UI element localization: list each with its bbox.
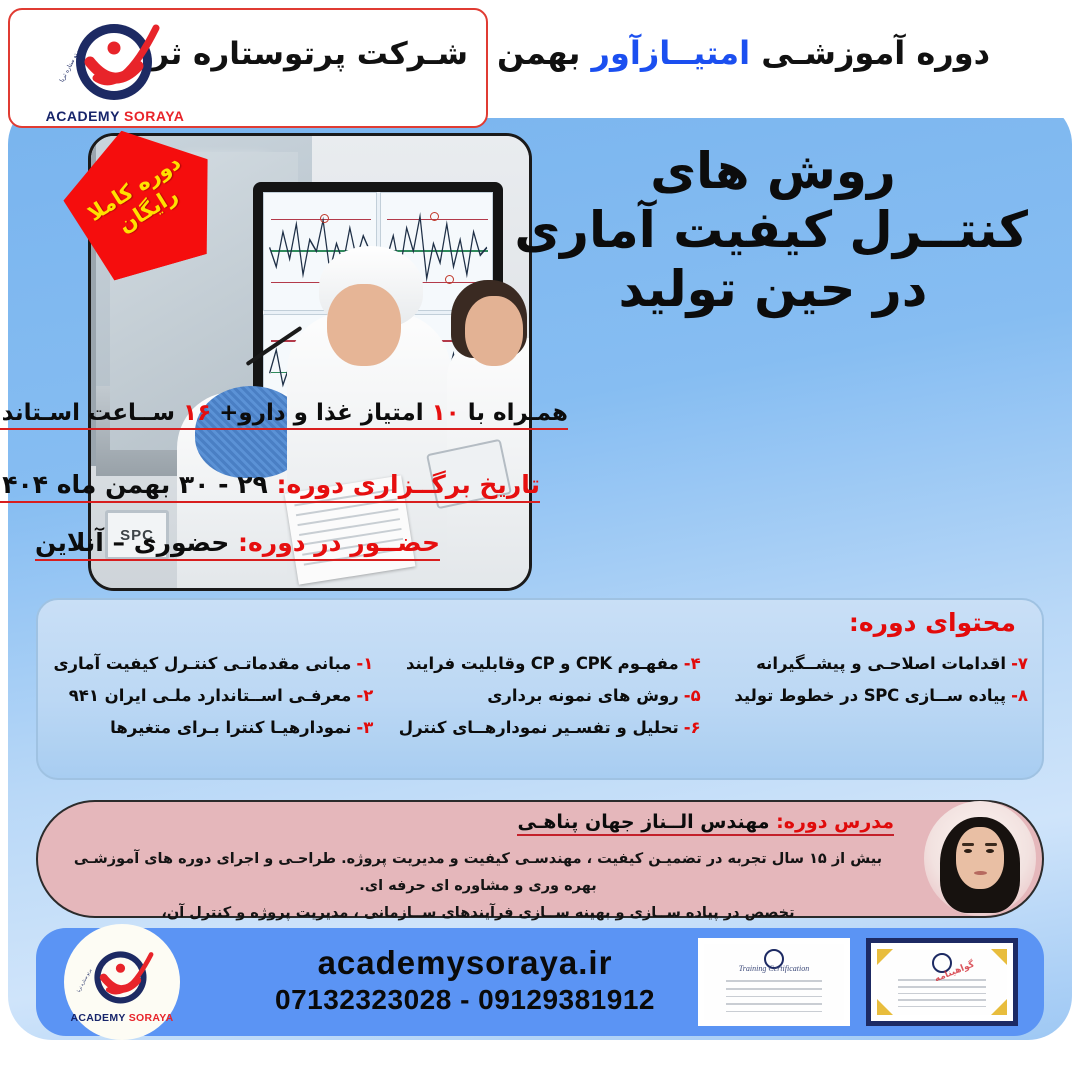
item-text: پیاده ســازی SPC در خطوط تولید <box>734 680 1006 712</box>
poster-root: دوره آموزشـی امتیــازآور بهمن ماه شـرکت … <box>0 0 1080 1080</box>
instructor-name: مهندس الــناز جهان پناهـی <box>517 811 776 833</box>
instructor-avatar <box>924 801 1036 916</box>
course-date-line: تاریخ برگــزاری دوره: ۲۹ - ۳۰ بهمن ماه ۱… <box>0 470 540 503</box>
certificate-title: Training Certification <box>704 964 844 973</box>
credit-suffix: ســاعت اسـتاندارد <box>0 400 183 426</box>
item-number: ۳- <box>356 712 373 744</box>
company-identity-box: شـرکت پرتوستاره ثریا پرتو ستاره ثریا ACA… <box>8 8 488 128</box>
title-line-1: روش های <box>518 142 1028 201</box>
item-number: ۴- <box>684 648 701 680</box>
course-mode-line: حضــور در دوره: حضوری – آنلاین <box>35 528 440 561</box>
item-text: نمودارهیـا کنترا بـرای متغیرها <box>110 712 351 744</box>
contact-block: academysoraya.ir 07132323028 - 091293819… <box>250 944 680 1016</box>
instructor-panel: مدرس دوره: مهندس الــناز جهان پناهـی بیش… <box>36 800 1044 918</box>
item-text: تحلیل و تفسـیر نمودارهــای کنترل <box>399 712 679 744</box>
footer-bar: پرتو ستاره ثریا ACADEMY SORAYA academyso… <box>36 928 1044 1036</box>
title-line-2: کنتــرل کیفیت آماری <box>518 201 1028 260</box>
item-number: ۵- <box>684 680 701 712</box>
svg-text:پرتو ستاره ثریا: پرتو ستاره ثریا <box>76 967 93 993</box>
content-item: ۶-تحلیل و تفسـیر نمودارهــای کنترل <box>379 712 700 744</box>
content-column-middle: ۴-مفهـوم CPK و CP وقابلیت فرایند ۵-روش ه… <box>379 648 700 745</box>
content-column-left: ۷-اقدامات اصلاحـی و پیشــگیرانه ۸-پیاده … <box>707 648 1028 745</box>
instructor-title: مدرس دوره: مهندس الــناز جهان پناهـی <box>517 811 894 836</box>
item-number: ۶- <box>684 712 701 744</box>
instructor-label: مدرس دوره: <box>776 811 894 833</box>
content-item: ۷-اقدامات اصلاحـی و پیشــگیرانه <box>707 648 1028 680</box>
credit-hours-line: همـراه با ۱۰ امتیاز غذا و دارو+ ۱۶ ســاع… <box>0 400 568 430</box>
footer-brand-soraya: SORAYA <box>129 1012 174 1024</box>
item-text: روش های نمونه برداری <box>487 680 679 712</box>
item-text: مبانی مقدماتـی کنتـرل کیفیت آماری <box>53 648 351 680</box>
promo-headline: دوره آموزشـی امتیــازآور بهمن ماه <box>435 34 990 72</box>
promo-highlight: امتیــازآور <box>592 34 751 72</box>
instructor-bio: بیش از ۱۵ سال تجربه در تضمیـن کیفیت ، مه… <box>64 846 892 926</box>
course-title: روش های کنتــرل کیفیت آماری در حین تولید <box>518 142 1028 319</box>
course-content-panel: محتوای دوره: ۷-اقدامات اصلاحـی و پیشــگی… <box>36 598 1044 780</box>
footer-brand-academy: ACADEMY <box>70 1012 125 1024</box>
item-number: ۲- <box>356 680 373 712</box>
item-number: ۷- <box>1011 648 1028 680</box>
brand-soraya-word: SORAYA <box>124 108 184 124</box>
footer-logo: پرتو ستاره ثریا ACADEMY SORAYA <box>64 924 180 1040</box>
item-text: اقدامات اصلاحـی و پیشــگیرانه <box>756 648 1006 680</box>
content-item: ۳-نمودارهیـا کنترا بـرای متغیرها <box>52 712 373 744</box>
credit-points: ۱۰ <box>432 400 460 426</box>
top-header-bar: دوره آموزشـی امتیــازآور بهمن ماه شـرکت … <box>0 0 1080 118</box>
certificate-sample-persian: گواهینامه <box>866 938 1018 1026</box>
credit-prefix: همـراه با <box>460 400 568 426</box>
mode-label: حضــور در دوره: <box>238 528 440 557</box>
content-heading: محتوای دوره: <box>849 608 1016 637</box>
content-item: ۱-مبانی مقدماتـی کنتـرل کیفیت آماری <box>52 648 373 680</box>
date-value: ۲۹ - ۳۰ بهمن ماه ۱۴۰۴ <box>0 470 277 499</box>
certificate-sample-english: Training Certification <box>698 938 850 1026</box>
brand-caption: ACADEMY SORAYA <box>40 108 190 124</box>
website-link[interactable]: academysoraya.ir <box>250 944 680 982</box>
content-item: ۵-روش های نمونه برداری <box>379 680 700 712</box>
phone-numbers[interactable]: 07132323028 - 09129381912 <box>250 984 680 1016</box>
content-item: ۲-معرفـی اســتاندارد ملـی ایران ۹۴۱ <box>52 680 373 712</box>
credit-mid: امتیاز غذا و دارو+ <box>211 400 432 426</box>
mode-value: حضوری – آنلاین <box>35 528 238 557</box>
item-number: ۱- <box>356 648 373 680</box>
soraya-star-logo-icon: پرتو ستاره ثریا <box>76 945 168 1019</box>
credit-hours: ۱۶ <box>183 400 211 426</box>
instructor-bio-line-1: بیش از ۱۵ سال تجربه در تضمیـن کیفیت ، مه… <box>64 846 892 900</box>
brand-academy-word: ACADEMY <box>46 108 120 124</box>
promo-prefix: دوره آموزشـی <box>750 34 990 72</box>
soraya-star-logo-icon: پرتو ستاره ثریا <box>56 16 176 112</box>
item-number: ۸- <box>1011 680 1028 712</box>
content-item: ۸-پیاده ســازی SPC در خطوط تولید <box>707 680 1028 712</box>
item-text: مفهـوم CPK و CP وقابلیت فرایند <box>406 648 679 680</box>
instructor-bio-line-2: تخصص در پیاده ســازی و بهینه ســازی فرآی… <box>64 900 892 927</box>
content-item: ۴-مفهـوم CPK و CP وقابلیت فرایند <box>379 648 700 680</box>
company-name: شـرکت پرتوستاره ثریا <box>128 36 468 72</box>
content-column-right: ۱-مبانی مقدماتـی کنتـرل کیفیت آماری ۲-مع… <box>52 648 373 745</box>
date-label: تاریخ برگــزاری دوره: <box>277 470 541 499</box>
item-text: معرفـی اســتاندارد ملـی ایران ۹۴۱ <box>69 680 352 712</box>
title-line-3: در حین تولید <box>518 260 1028 319</box>
